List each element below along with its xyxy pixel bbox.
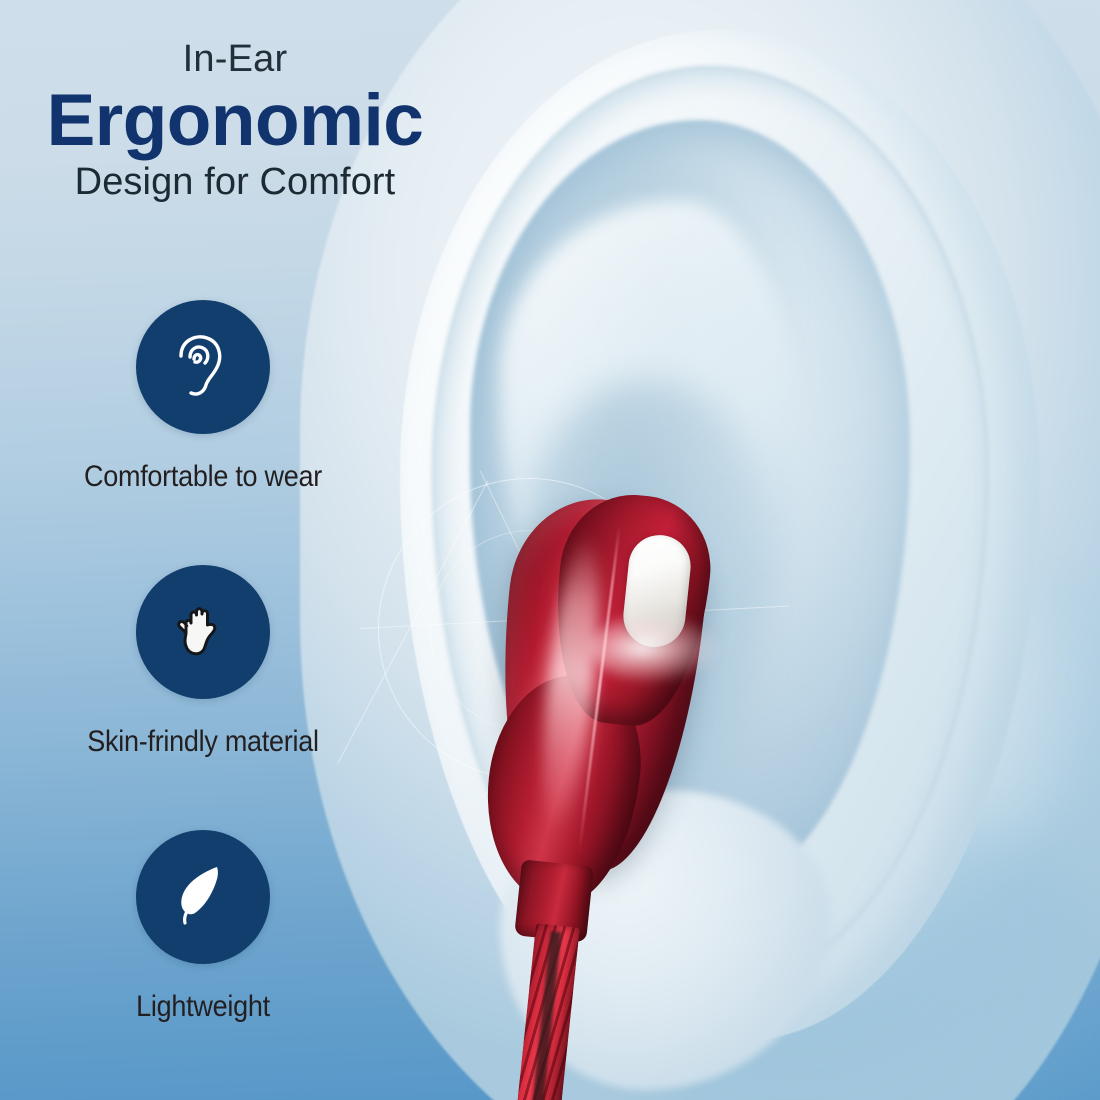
feature-label: Lightweight <box>55 990 352 1024</box>
earphone-product <box>470 495 770 1100</box>
feature-skin-friendly-material: Skin-frindly material <box>38 565 368 759</box>
leaf-icon <box>165 857 241 938</box>
headline-subtitle: Design for Comfort <box>0 163 470 203</box>
feature-lightweight: Lightweight <box>38 830 368 1024</box>
feature-badge <box>136 300 270 434</box>
feature-label: Comfortable to wear <box>55 460 352 494</box>
hand-icon <box>166 593 240 672</box>
feature-comfortable-to-wear: Comfortable to wear <box>38 300 368 494</box>
feature-badge <box>136 565 270 699</box>
headline-eyebrow: In-Ear <box>0 40 470 78</box>
headline-title: Ergonomic <box>0 82 470 161</box>
ear-icon <box>164 326 242 409</box>
product-feature-image: In-Ear Ergonomic Design for Comfort Comf… <box>0 0 1100 1100</box>
earbud-glow <box>590 613 720 683</box>
headline-block: In-Ear Ergonomic Design for Comfort <box>0 40 470 203</box>
feature-badge <box>136 830 270 964</box>
feature-label: Skin-frindly material <box>55 725 352 759</box>
